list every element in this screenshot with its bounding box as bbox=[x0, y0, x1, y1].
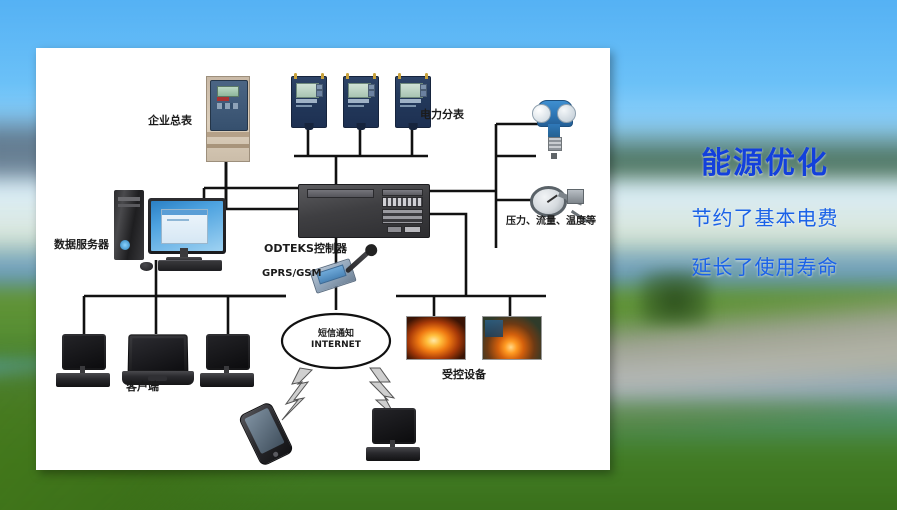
node-client-desktop-right-pc[interactable] bbox=[200, 373, 254, 387]
controller-switch-a[interactable] bbox=[404, 226, 422, 233]
label-gprs: GPRS/GSM bbox=[262, 268, 321, 279]
meter-terminal-right bbox=[425, 73, 428, 79]
node-sub-meter-1[interactable] bbox=[291, 76, 327, 128]
phone-home-button[interactable] bbox=[272, 451, 279, 458]
power-led-icon bbox=[120, 240, 130, 250]
monitor-screen bbox=[374, 410, 414, 442]
node-main-meter-cabinet[interactable] bbox=[206, 76, 250, 162]
mouse[interactable] bbox=[140, 262, 153, 271]
label-sensors: 压力、流量、温度等 bbox=[506, 212, 596, 227]
benefit-line-2: 延长了使用寿命 bbox=[640, 251, 890, 280]
meter-lcd bbox=[217, 86, 239, 97]
label-client: 客户端 bbox=[126, 378, 159, 394]
meter-terminal-right bbox=[321, 73, 324, 79]
page-title: 能源优化 bbox=[640, 138, 890, 182]
monitor-screen bbox=[64, 336, 104, 368]
meter-button-b[interactable] bbox=[368, 90, 375, 97]
node-client-desktop-left-monitor[interactable] bbox=[62, 334, 106, 370]
cloud-line-1: 短信通知 bbox=[282, 329, 390, 340]
node-data-server-monitor[interactable] bbox=[148, 198, 226, 254]
node-equipment-furnace-1[interactable] bbox=[406, 316, 466, 360]
controller-terminal-block bbox=[382, 197, 423, 206]
keyboard[interactable] bbox=[158, 260, 222, 271]
monitor-screen bbox=[208, 336, 248, 368]
node-remote-desktop-pc[interactable] bbox=[366, 447, 420, 461]
meter-strip-2 bbox=[296, 105, 312, 108]
lightning-left bbox=[282, 368, 312, 420]
label-data-server: 数据服务器 bbox=[54, 236, 109, 252]
meter-strip-2 bbox=[348, 105, 364, 108]
diagram-canvas: 企业总表 bbox=[36, 48, 610, 470]
diagram-panel: 企业总表 bbox=[36, 48, 610, 470]
label-main-meter: 企业总表 bbox=[148, 112, 192, 128]
cloud-line-2: INTERNET bbox=[282, 340, 390, 351]
meter-terminal-right bbox=[373, 73, 376, 79]
benefit-line-1: 节约了基本电费 bbox=[640, 202, 890, 231]
meter-strip bbox=[400, 99, 421, 103]
node-remote-desktop-monitor[interactable] bbox=[372, 408, 416, 444]
marketing-copy: 能源优化 节约了基本电费 延长了使用寿命 bbox=[640, 138, 890, 280]
meter-terminal-left bbox=[346, 73, 349, 79]
monitor-screen bbox=[151, 201, 223, 251]
controller-switch-b[interactable] bbox=[387, 226, 402, 233]
meter-button-b[interactable] bbox=[316, 90, 323, 97]
node-data-server-tower[interactable] bbox=[114, 190, 144, 260]
meter-strip bbox=[348, 99, 369, 103]
node-client-laptop-lid[interactable] bbox=[128, 334, 189, 374]
meter-strip-2 bbox=[400, 105, 416, 108]
meter-seal bbox=[357, 123, 366, 130]
node-sub-meter-2[interactable] bbox=[343, 76, 379, 128]
meter-button-b[interactable] bbox=[420, 90, 427, 97]
transmitter-neck bbox=[548, 124, 561, 139]
gauge-fitting bbox=[567, 189, 584, 204]
transmitter-thread bbox=[548, 137, 561, 151]
controller-io-grid bbox=[382, 209, 423, 225]
label-controller: ODTEKS控制器 bbox=[264, 240, 347, 256]
label-sub-meter: 电力分表 bbox=[420, 106, 464, 122]
optical-drive-slot bbox=[118, 197, 140, 201]
node-client-desktop-left-pc[interactable] bbox=[56, 373, 110, 387]
cabinet-shelf-lower bbox=[207, 144, 249, 147]
meter-indicator bbox=[217, 97, 229, 101]
internet-cloud-label: 短信通知 INTERNET bbox=[282, 329, 390, 352]
meter-keypad bbox=[217, 103, 238, 109]
label-controlled-equipment: 受控设备 bbox=[442, 366, 486, 382]
node-pressure-transmitter[interactable] bbox=[534, 100, 574, 156]
drive-bay bbox=[118, 204, 140, 207]
meter-seal bbox=[305, 123, 314, 130]
screen-window bbox=[161, 209, 208, 244]
node-client-desktop-right-monitor[interactable] bbox=[206, 334, 250, 370]
controller-nameplate bbox=[307, 189, 374, 198]
meter-seal bbox=[409, 123, 418, 130]
meter-strip bbox=[296, 99, 317, 103]
meter-face bbox=[210, 80, 247, 131]
meter-terminal-left bbox=[398, 73, 401, 79]
laptop-screen bbox=[132, 338, 185, 370]
transmitter-cover-right bbox=[557, 104, 576, 123]
meter-terminal-left bbox=[294, 73, 297, 79]
controller-header-strip bbox=[382, 189, 423, 196]
node-equipment-furnace-2[interactable] bbox=[482, 316, 542, 360]
transmitter-tip bbox=[551, 153, 557, 160]
node-odteks-controller[interactable] bbox=[298, 184, 430, 238]
cabinet-shelf bbox=[207, 132, 249, 136]
